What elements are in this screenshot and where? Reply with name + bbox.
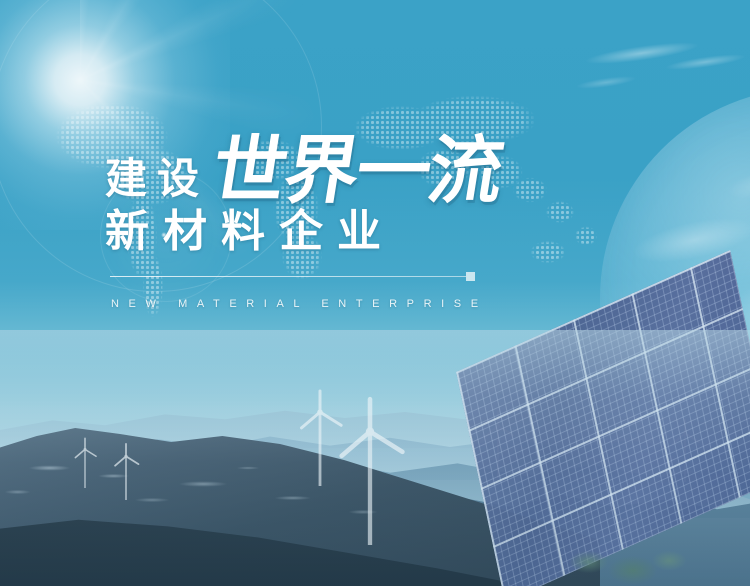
headline-primary-row: 建设 世界一流	[105, 128, 501, 206]
headline-second-line: 新材料企业	[105, 210, 395, 254]
banner-hero: 建设 世界一流 新材料企业 NEW MATERIAL ENTERPRISE	[0, 0, 750, 586]
headline-emphasis-text: 世界一流	[207, 135, 506, 206]
foreground-shrubs	[560, 520, 690, 586]
headline-block: 建设 世界一流 新材料企业 NEW MATERIAL ENTERPRISE	[0, 0, 750, 340]
headline-divider-cap	[466, 272, 475, 281]
wind-turbine-2	[110, 443, 141, 500]
headline-divider	[110, 276, 466, 277]
wind-turbine-1	[71, 437, 99, 488]
wind-turbine-6	[330, 397, 411, 546]
headline-subtitle: NEW MATERIAL ENTERPRISE	[111, 298, 488, 310]
headline-lead-text: 建设	[105, 158, 209, 206]
